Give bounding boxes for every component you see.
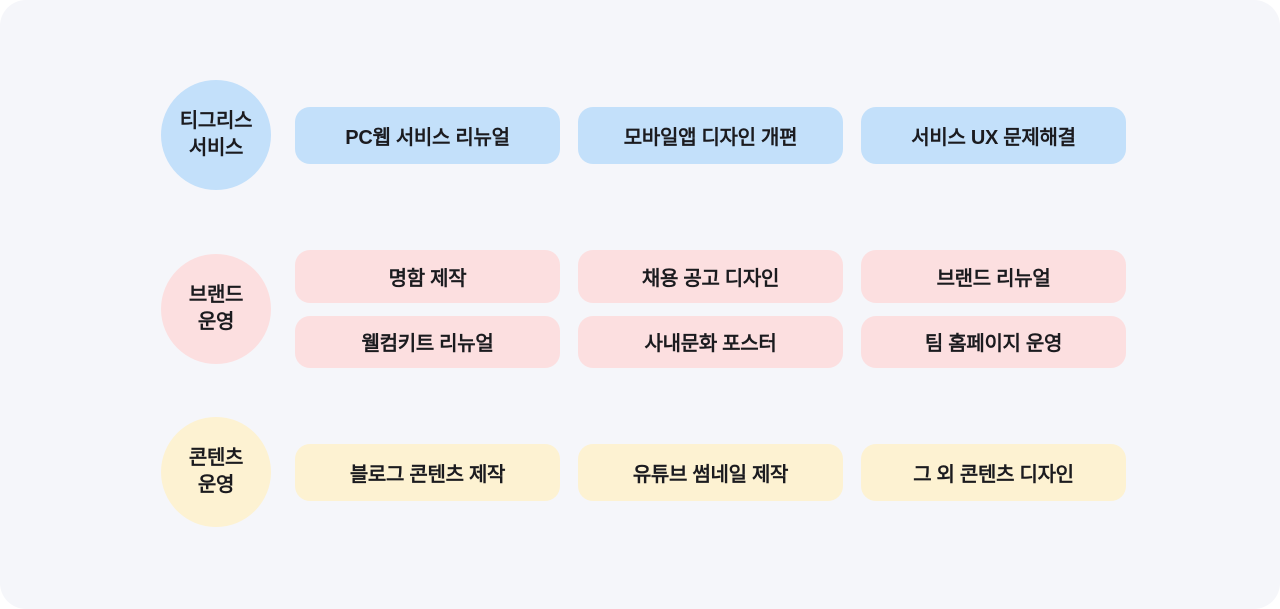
- row-service: 티그리스 서비스 PC웹 서비스 리뉴얼 모바일앱 디자인 개편 서비스 UX …: [0, 80, 1280, 190]
- category-circle-brand: 브랜드 운영: [161, 254, 271, 364]
- pill-pc-web-service-renewal[interactable]: PC웹 서비스 리뉴얼: [295, 107, 560, 164]
- row-brand-column-1: 명함 제작 웰컴키트 리뉴얼: [295, 250, 560, 368]
- pill-brand-renewal[interactable]: 브랜드 리뉴얼: [861, 250, 1126, 303]
- row-content: 콘텐츠 운영 블로그 콘텐츠 제작 유튜브 썸네일 제작 그 외 콘텐츠 디자인: [0, 417, 1280, 527]
- row-brand: 브랜드 운영 명함 제작 웰컴키트 리뉴얼 채용 공고 디자인 사내문화 포스터…: [0, 250, 1280, 368]
- category-circle-content: 콘텐츠 운영: [161, 417, 271, 527]
- pill-recruitment-notice-design[interactable]: 채용 공고 디자인: [578, 250, 843, 303]
- pill-team-homepage-operation[interactable]: 팀 홈페이지 운영: [861, 316, 1126, 369]
- pill-welcome-kit-renewal[interactable]: 웰컴키트 리뉴얼: [295, 316, 560, 369]
- row-content-column-1: 블로그 콘텐츠 제작: [295, 417, 560, 527]
- pill-blog-content-production[interactable]: 블로그 콘텐츠 제작: [295, 444, 560, 501]
- row-service-column-2: 모바일앱 디자인 개편: [578, 80, 843, 190]
- row-content-columns: 블로그 콘텐츠 제작 유튜브 썸네일 제작 그 외 콘텐츠 디자인: [295, 417, 1127, 527]
- pill-business-card-production[interactable]: 명함 제작: [295, 250, 560, 303]
- row-content-column-2: 유튜브 썸네일 제작: [578, 417, 843, 527]
- row-service-column-3: 서비스 UX 문제해결: [861, 80, 1126, 190]
- pill-service-ux-problem-solving[interactable]: 서비스 UX 문제해결: [861, 107, 1126, 164]
- row-brand-column-3: 브랜드 리뉴얼 팀 홈페이지 운영: [861, 250, 1126, 368]
- category-circle-service: 티그리스 서비스: [161, 80, 271, 190]
- row-brand-column-2: 채용 공고 디자인 사내문화 포스터: [578, 250, 843, 368]
- pill-other-content-design[interactable]: 그 외 콘텐츠 디자인: [861, 444, 1126, 501]
- pill-youtube-thumbnail-production[interactable]: 유튜브 썸네일 제작: [578, 444, 843, 501]
- row-brand-columns: 명함 제작 웰컴키트 리뉴얼 채용 공고 디자인 사내문화 포스터 브랜드 리뉴…: [295, 250, 1127, 368]
- row-service-columns: PC웹 서비스 리뉴얼 모바일앱 디자인 개편 서비스 UX 문제해결: [295, 80, 1127, 190]
- pill-mobile-app-design-revamp[interactable]: 모바일앱 디자인 개편: [578, 107, 843, 164]
- category-rows: 티그리스 서비스 PC웹 서비스 리뉴얼 모바일앱 디자인 개편 서비스 UX …: [0, 0, 1280, 609]
- row-content-column-3: 그 외 콘텐츠 디자인: [861, 417, 1126, 527]
- row-service-column-1: PC웹 서비스 리뉴얼: [295, 80, 560, 190]
- pill-internal-culture-poster[interactable]: 사내문화 포스터: [578, 316, 843, 369]
- diagram-canvas: 티그리스 서비스 PC웹 서비스 리뉴얼 모바일앱 디자인 개편 서비스 UX …: [0, 0, 1280, 609]
